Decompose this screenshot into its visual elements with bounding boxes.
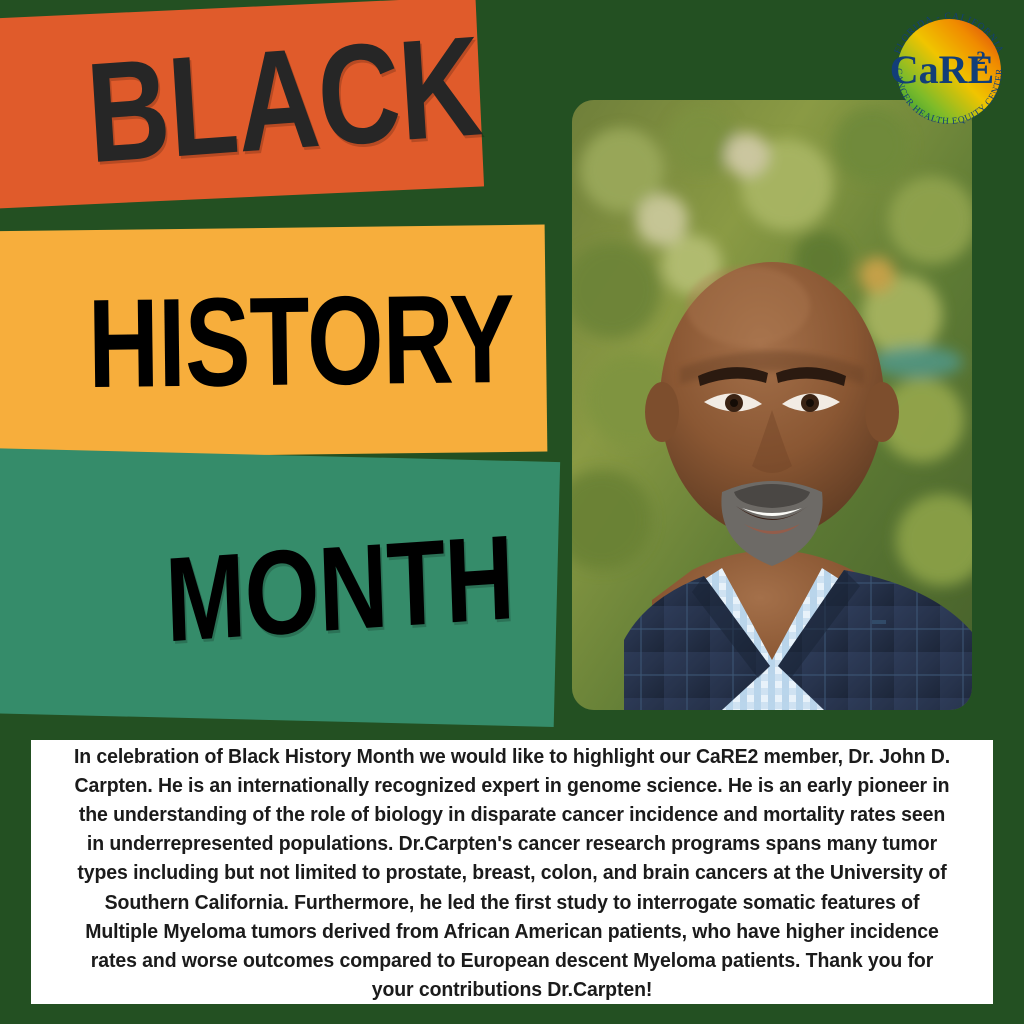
title-word-black: BLACK <box>84 28 484 172</box>
title-band-month: MONTH <box>0 448 560 727</box>
title-word-history: HISTORY <box>87 287 514 396</box>
title-band-black: BLACK <box>0 0 484 209</box>
caption-box: In celebration of Black History Month we… <box>31 740 993 1004</box>
care2-logo: FLORIDA - CALIFORNIA CANCER HEALTH EQUIT… <box>884 6 1014 136</box>
caption-paragraph: In celebration of Black History Month we… <box>70 743 954 1006</box>
title-word-month: MONTH <box>164 528 515 650</box>
title-band-history: HISTORY <box>0 225 547 459</box>
black-history-month-poster: BLACK HISTORY MONTH <box>0 0 1024 1024</box>
logo-superscript-text: 2 <box>976 48 986 69</box>
portrait-photo <box>572 100 972 710</box>
